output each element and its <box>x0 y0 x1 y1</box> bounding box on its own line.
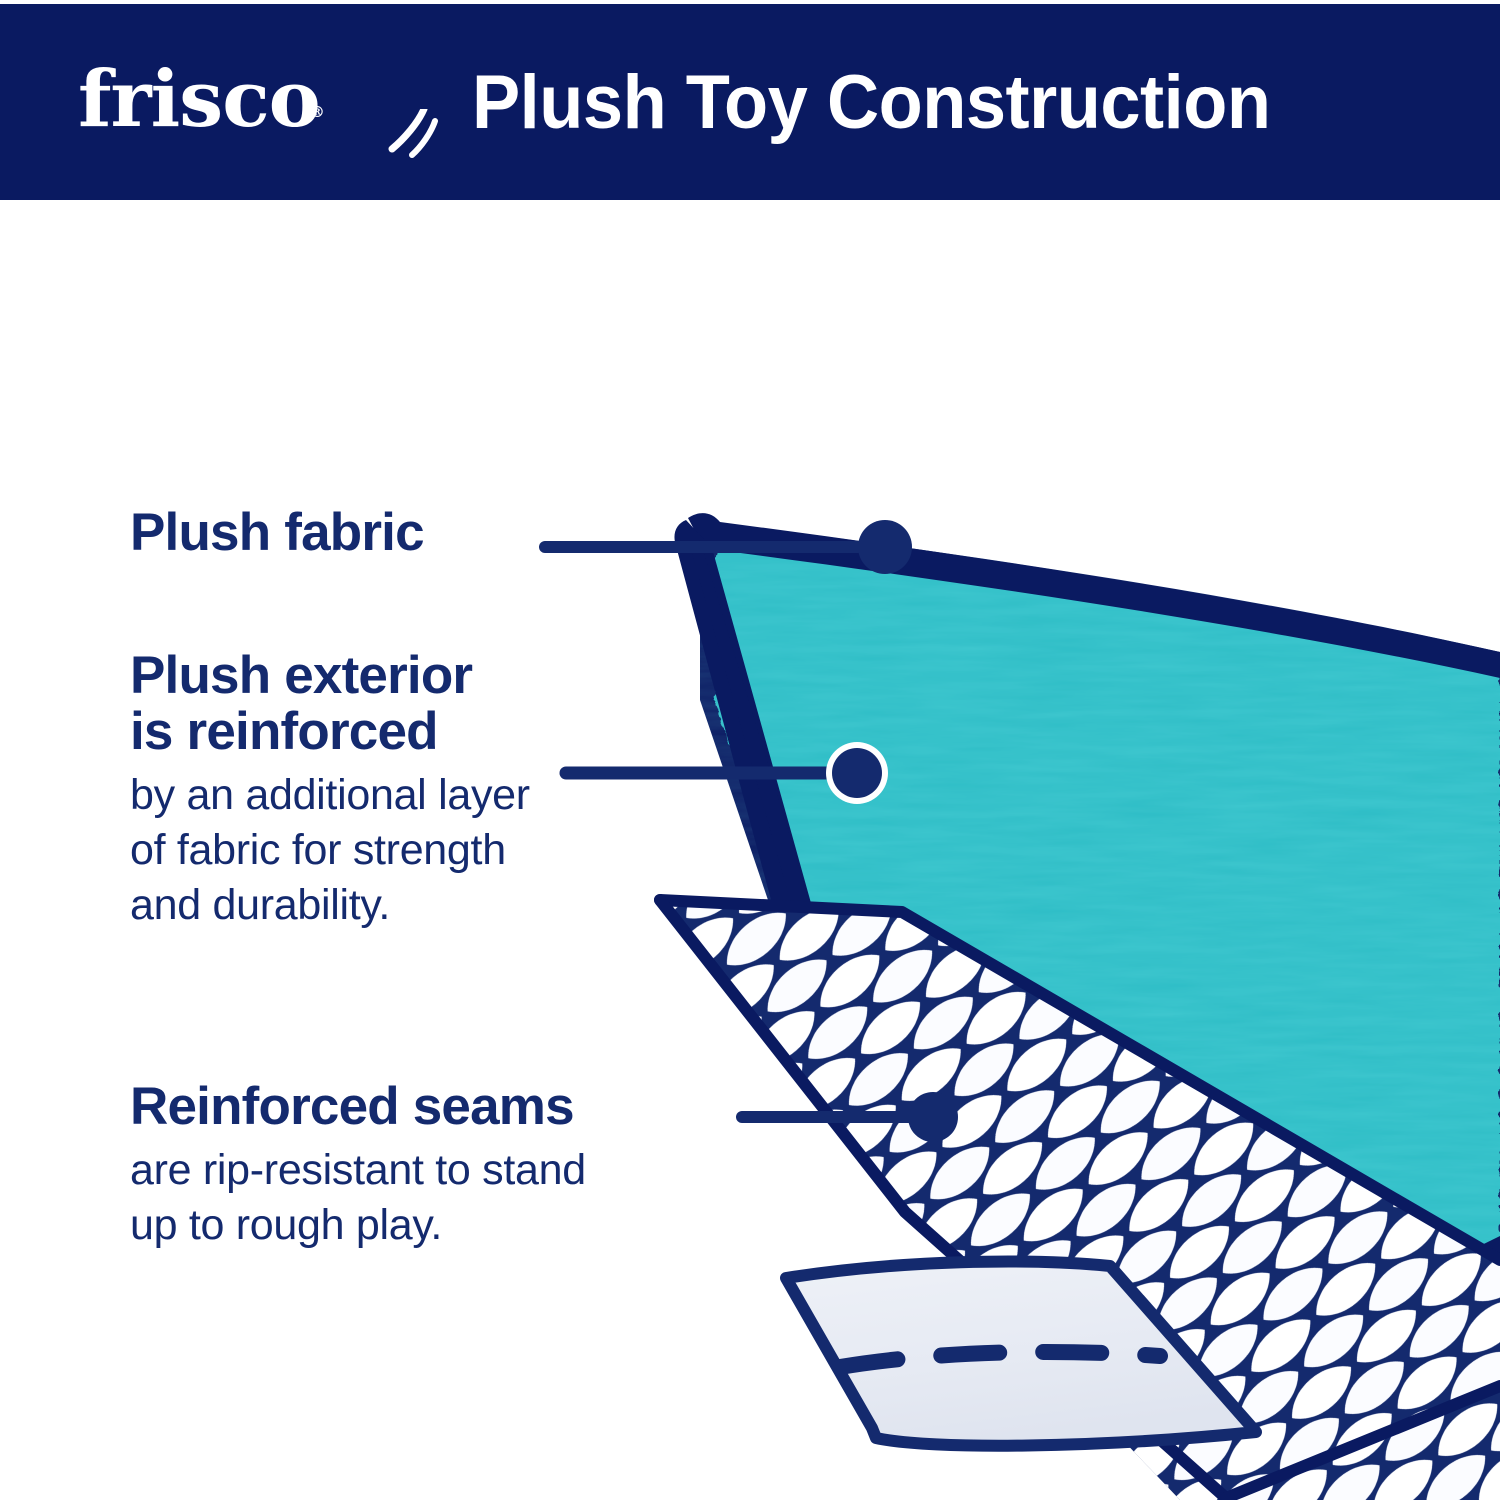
callout-plush-exterior-reinforced: Plush exterior is reinforced by an addit… <box>130 648 530 933</box>
callout-body: are rip-resistant to stand up to rough p… <box>130 1143 586 1253</box>
header-bar: frisco® Plush Toy Construction <box>0 4 1500 200</box>
callout-body: by an additional layer of fabric for str… <box>130 768 530 933</box>
callout-body-line-3: and durability. <box>130 878 530 933</box>
callout-body-line-1: are rip-resistant to stand <box>130 1143 586 1198</box>
callout-heading: Reinforced seams <box>130 1079 586 1135</box>
leader-dot-plush-fabric <box>858 520 912 574</box>
registered-trademark-icon: ® <box>310 103 324 121</box>
header-content: frisco® Plush Toy Construction <box>78 59 1500 146</box>
callout-reinforced-seams: Reinforced seams are rip-resistant to st… <box>130 1079 586 1253</box>
leader-dot-plush-exterior <box>832 748 882 798</box>
frisco-logo-text: frisco <box>78 54 320 145</box>
leader-dot-reinforced-seams <box>908 1092 958 1142</box>
callout-heading-line-1: Plush exterior <box>130 648 530 704</box>
callout-body-line-1: by an additional layer <box>130 768 530 823</box>
callout-plush-fabric: Plush fabric <box>130 505 424 561</box>
page-title: Plush Toy Construction <box>472 59 1270 146</box>
callout-body-line-2: up to rough play. <box>130 1198 586 1253</box>
callout-heading-line-2: is reinforced <box>130 704 530 760</box>
infographic-page: frisco® Plush Toy Construction <box>0 0 1500 1500</box>
logo-swoosh-icon <box>388 109 448 159</box>
callout-body-line-2: of fabric for strength <box>130 823 530 878</box>
callout-heading: Plush fabric <box>130 505 424 561</box>
frisco-logo: frisco® <box>78 61 334 139</box>
